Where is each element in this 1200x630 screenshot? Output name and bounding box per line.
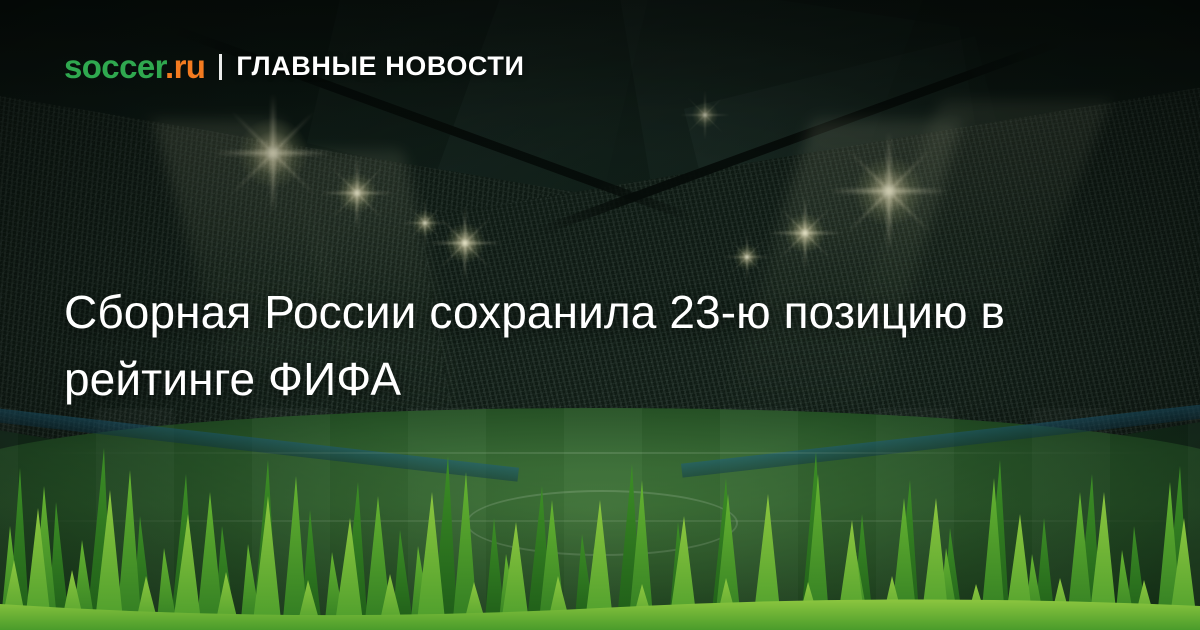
- section-kicker: ГЛАВНЫЕ НОВОСТИ: [236, 53, 524, 80]
- logo-suffix-text: .ru: [165, 48, 205, 85]
- grass-foreground: [0, 430, 1200, 630]
- logo-primary-text: soccer: [64, 48, 165, 85]
- news-share-card: soccer.ru ГЛАВНЫЕ НОВОСТИ Сборная России…: [0, 0, 1200, 630]
- card-header: soccer.ru ГЛАВНЫЕ НОВОСТИ: [64, 50, 524, 83]
- site-logo[interactable]: soccer.ru: [64, 50, 205, 83]
- page-title: Сборная России сохранила 23-ю позицию в …: [64, 279, 1064, 412]
- header-divider: [219, 54, 222, 80]
